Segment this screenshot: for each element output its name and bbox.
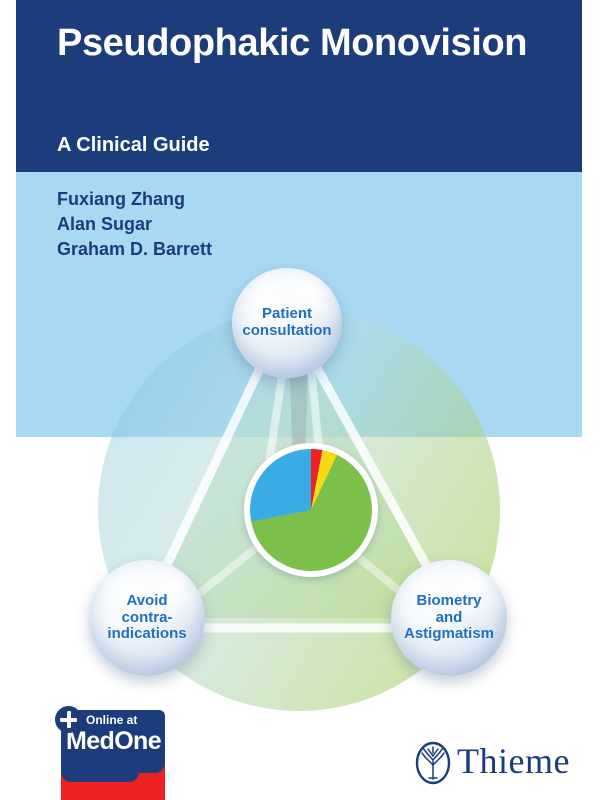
pie-chart	[244, 443, 378, 577]
node-avoid-contraindications[interactable]: Avoid contra- indications	[89, 560, 205, 676]
plus-icon	[55, 706, 82, 733]
node-label: Avoid contra- indications	[107, 593, 186, 643]
node-label: Biometry and Astigmatism	[404, 593, 494, 643]
node-label: Patient consultation	[242, 306, 331, 340]
node-label-line: Patient	[262, 305, 312, 322]
node-biometry-astigmatism[interactable]: Biometry and Astigmatism	[391, 560, 507, 676]
node-label-line: Avoid	[126, 592, 167, 609]
medone-online-label: Online at	[86, 713, 137, 727]
book-cover: Pseudophakic Monovision A Clinical Guide…	[0, 0, 600, 800]
pie-chart-slices	[250, 449, 372, 571]
node-label-line: contra-	[122, 609, 173, 626]
medone-badge[interactable]: Online at MedOne	[55, 706, 165, 800]
node-label-line: indications	[107, 625, 186, 642]
concept-diagram-artwork	[16, 0, 582, 800]
node-label-line: Biometry	[416, 592, 481, 609]
page-title: Pseudophakic Monovision	[57, 20, 557, 66]
author-list: Fuxiang Zhang Alan Sugar Graham D. Barre…	[57, 187, 212, 262]
cover-sheet: Pseudophakic Monovision A Clinical Guide…	[16, 0, 582, 800]
author-name: Alan Sugar	[57, 212, 212, 237]
node-label-line: consultation	[242, 322, 331, 339]
page-subtitle: A Clinical Guide	[57, 134, 210, 157]
node-label-line: and	[436, 609, 463, 626]
medone-name-label: MedOne	[66, 727, 161, 756]
author-name: Fuxiang Zhang	[57, 187, 212, 212]
publisher-logo: Thieme	[412, 740, 562, 786]
tree-in-oval-icon	[412, 740, 454, 786]
node-patient-consultation[interactable]: Patient consultation	[232, 268, 342, 378]
author-name: Graham D. Barrett	[57, 237, 212, 262]
publisher-name: Thieme	[457, 740, 570, 782]
node-label-line: Astigmatism	[404, 625, 494, 642]
